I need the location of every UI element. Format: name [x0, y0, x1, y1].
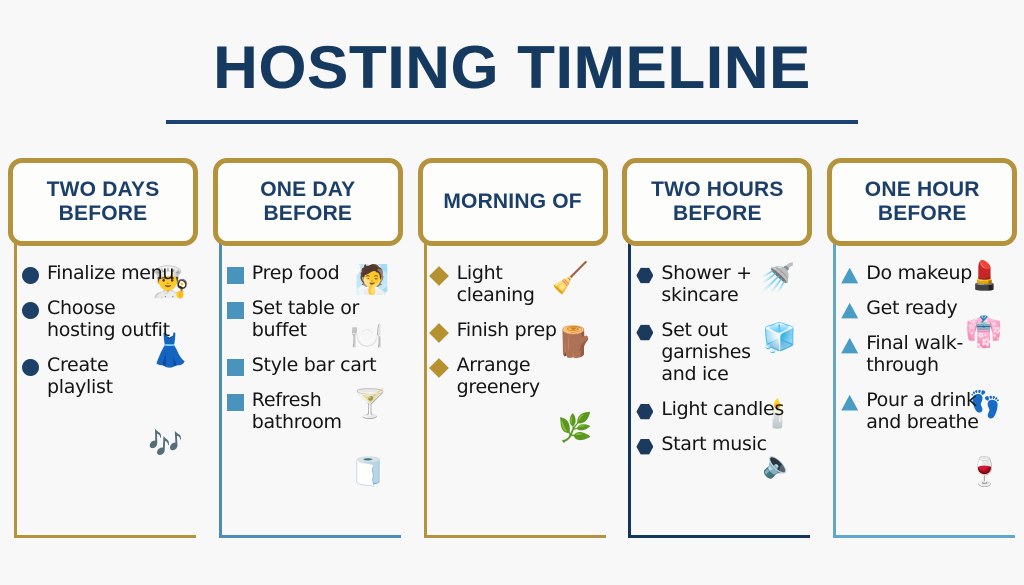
list-item[interactable]: Arrange greenery [432, 354, 610, 398]
list-item[interactable]: Pour a drink and breathe [841, 389, 1019, 433]
list-item-label: Pour a drink and breathe [866, 389, 994, 433]
column-header-5[interactable]: ONE HOUR BEFORE [827, 158, 1017, 246]
column-header-label: ONE DAY BEFORE [218, 178, 398, 225]
bullet-hexagon-icon [636, 267, 653, 284]
page-title-wrap: HOSTING TIMELINE [0, 38, 1024, 98]
column-header-1[interactable]: TWO DAYS BEFORE [8, 158, 198, 246]
timeline-column-4: TWO HOURS BEFOREShower + skincareSet out… [614, 158, 819, 543]
column-item-list: Prep foodSet table or buffetStyle bar ca… [227, 262, 405, 446]
list-item-label: Create playlist [47, 354, 175, 398]
wine-glass-icon: 🍷 [967, 458, 1002, 486]
column-item-list: Finalize menuChoose hosting outfitCreate… [22, 262, 200, 411]
title-underline [166, 120, 858, 124]
list-item[interactable]: Do makeup [841, 262, 1019, 284]
list-item-label: Prep food [252, 262, 340, 284]
bullet-hexagon-icon [636, 324, 653, 341]
timeline-column-5: ONE HOUR BEFOREDo makeupGet readyFinal w… [819, 158, 1024, 543]
list-item-label: Arrange greenery [457, 354, 585, 398]
list-item[interactable]: Refresh bathroom [227, 389, 405, 433]
list-item-label: Get ready [866, 297, 957, 319]
list-item[interactable]: Choose hosting outfit [22, 297, 200, 341]
bullet-diamond-icon [429, 323, 449, 343]
list-item[interactable]: Finalize menu [22, 262, 200, 284]
list-item[interactable]: Final walk-through [841, 332, 1019, 376]
list-item[interactable]: Light cleaning [432, 262, 610, 306]
bullet-diamond-icon [429, 266, 449, 286]
bullet-hexagon-icon [636, 438, 653, 455]
list-item-label: Set table or buffet [252, 297, 380, 341]
list-item[interactable]: Prep food [227, 262, 405, 284]
column-header-3[interactable]: MORNING OF [418, 158, 608, 246]
bullet-circle-icon [22, 302, 39, 319]
bullet-square-icon [227, 359, 244, 376]
column-header-label: TWO DAYS BEFORE [13, 178, 193, 225]
list-item-label: Light candles [661, 398, 784, 420]
list-item[interactable]: Start music [636, 433, 814, 455]
column-header-4[interactable]: TWO HOURS BEFORE [622, 158, 812, 246]
list-item[interactable]: Set table or buffet [227, 297, 405, 341]
list-item-label: Start music [661, 433, 766, 455]
bullet-circle-icon [22, 267, 39, 284]
music-notes-icon: 🎶 [148, 430, 183, 458]
list-item-label: Light cleaning [457, 262, 585, 306]
column-item-list: Do makeupGet readyFinal walk-throughPour… [841, 262, 1019, 446]
column-header-label: TWO HOURS BEFORE [627, 178, 807, 225]
list-item[interactable]: Light candles [636, 398, 814, 420]
list-item[interactable]: Style bar cart [227, 354, 405, 376]
column-header-label: MORNING OF [439, 190, 586, 214]
timeline-column-3: MORNING OFLight cleaningFinish prepArran… [410, 158, 615, 543]
bullet-square-icon [227, 302, 244, 319]
list-item[interactable]: Get ready [841, 297, 1019, 319]
timeline-column-2: ONE DAY BEFOREPrep foodSet table or buff… [205, 158, 410, 543]
list-item-label: Finalize menu [47, 262, 174, 284]
timeline-column-1: TWO DAYS BEFOREFinalize menuChoose hosti… [0, 158, 205, 543]
list-item-label: Shower + skincare [661, 262, 789, 306]
timeline-columns: TWO DAYS BEFOREFinalize menuChoose hosti… [0, 158, 1024, 553]
list-item[interactable]: Create playlist [22, 354, 200, 398]
column-header-2[interactable]: ONE DAY BEFORE [213, 158, 403, 246]
list-item-label: Choose hosting outfit [47, 297, 175, 341]
list-item[interactable]: Set out garnishes and ice [636, 319, 814, 385]
towel-icon: 🧻 [351, 458, 386, 486]
column-header-label: ONE HOUR BEFORE [832, 178, 1012, 225]
bullet-triangle-icon [841, 302, 858, 319]
column-item-list: Shower + skincareSet out garnishes and i… [636, 262, 814, 468]
list-item-label: Finish prep [457, 319, 557, 341]
list-item[interactable]: Shower + skincare [636, 262, 814, 306]
bullet-square-icon [227, 394, 244, 411]
bullet-square-icon [227, 267, 244, 284]
list-item-label: Refresh bathroom [252, 389, 380, 433]
herb-branch-icon: 🌿 [558, 414, 593, 442]
bullet-triangle-icon [841, 267, 858, 284]
bullet-triangle-icon [841, 337, 858, 354]
bullet-circle-icon [22, 359, 39, 376]
list-item-label: Final walk-through [866, 332, 994, 376]
bullet-hexagon-icon [636, 403, 653, 420]
list-item-label: Set out garnishes and ice [661, 319, 789, 385]
list-item-label: Style bar cart [252, 354, 376, 376]
bullet-diamond-icon [429, 358, 449, 378]
list-item-label: Do makeup [866, 262, 972, 284]
list-item[interactable]: Finish prep [432, 319, 610, 341]
column-item-list: Light cleaningFinish prepArrange greener… [432, 262, 610, 411]
bullet-triangle-icon [841, 394, 858, 411]
page-title: HOSTING TIMELINE [0, 38, 1024, 98]
